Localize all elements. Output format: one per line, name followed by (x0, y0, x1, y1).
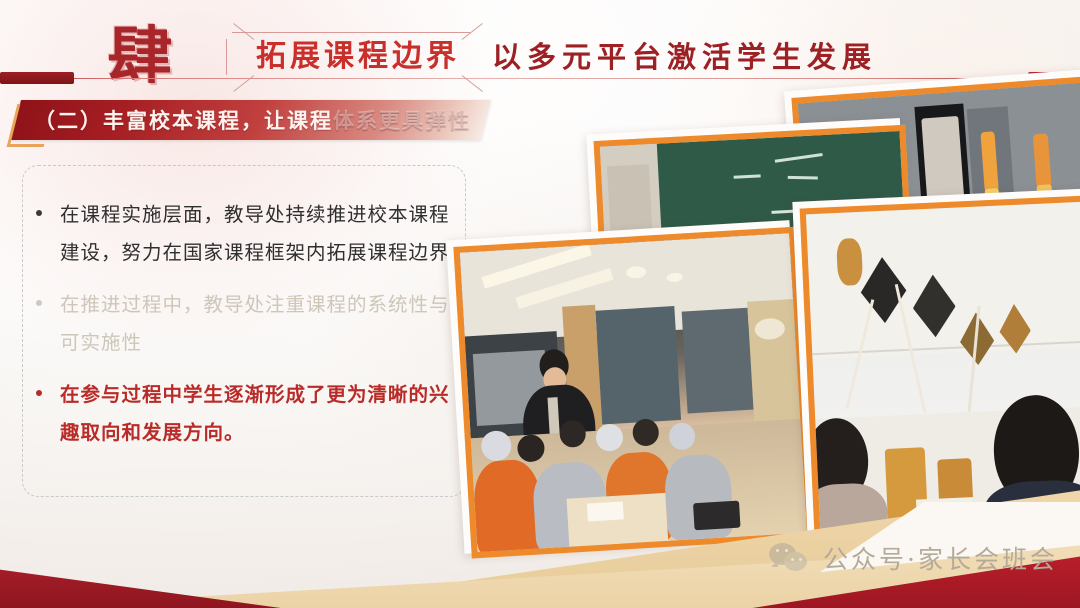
watermark: 公众号·家长会班会 (769, 540, 1058, 576)
photo-image (460, 233, 807, 552)
bracket-left-icon (228, 33, 254, 81)
photo-classroom-wide (446, 220, 808, 554)
watermark-text: 公众号·家长会班会 (823, 540, 1058, 576)
bullet-dot-icon (36, 390, 42, 396)
slide-root: 肆 拓展课程边界 以多元平台激活学生发展 （二）丰富校本课程，让课程体系更具弹性… (0, 0, 1080, 608)
list-item: 在参与过程中学生逐渐形成了更为清晰的兴趣取向和发展方向。 (36, 376, 460, 452)
banner-label-strong: （二）丰富校本课程，让课程 (34, 108, 333, 133)
header-title-left: 拓展课程边界 (234, 33, 482, 81)
list-item: 在课程实施层面，教导处持续推进校本课程建设，努力在国家课程框架内拓展课程边界 (36, 196, 460, 272)
photo-image (806, 201, 1080, 544)
photo-handicraft (792, 188, 1080, 545)
bracket-right-icon (462, 33, 488, 81)
banner-label-faded: 体系更具弹性 (333, 108, 471, 133)
bullet-text: 在课程实施层面，教导处持续推进校本课程建设，努力在国家课程框架内拓展课程边界 (60, 196, 460, 272)
bullet-text: 在推进过程中，教导处注重课程的系统性与可实施性 (60, 286, 460, 362)
list-item: 在推进过程中，教导处注重课程的系统性与可实施性 (36, 286, 460, 362)
photo-frame (453, 227, 813, 559)
wechat-icon (769, 543, 811, 573)
title-left-wrap: 拓展课程边界 (234, 33, 482, 81)
section-banner-label: （二）丰富校本课程，让课程体系更具弹性 (34, 101, 471, 141)
bullet-dot-icon (36, 300, 42, 306)
header-title-right: 以多元平台激活学生发展 (492, 33, 877, 81)
bullet-dot-icon (36, 210, 42, 216)
section-number-seal: 肆 (90, 16, 191, 96)
photo-collage (455, 80, 1080, 580)
header-accent-bar-left (0, 72, 74, 84)
bullet-list: 在课程实施层面，教导处持续推进校本课程建设，努力在国家课程框架内拓展课程边界 在… (36, 196, 460, 466)
photo-frame (800, 195, 1080, 550)
bullet-text: 在参与过程中学生逐渐形成了更为清晰的兴趣取向和发展方向。 (60, 376, 460, 452)
